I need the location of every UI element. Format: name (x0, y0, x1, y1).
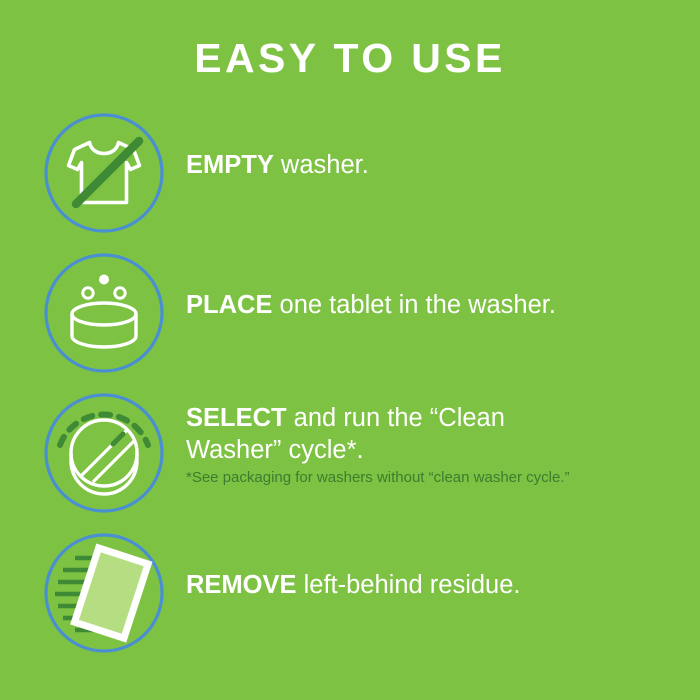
step-rest: left-behind residue. (297, 571, 521, 599)
page-title: EASY TO USE (0, 36, 700, 81)
step-item: REMOVE left-behind residue. (0, 524, 700, 664)
step-emphasis: REMOVE (186, 571, 297, 599)
tshirt-no-laundry-icon (43, 112, 165, 234)
step-label: REMOVE left-behind residue. (186, 569, 680, 601)
step-text: PLACE one tablet in the washer. (186, 289, 680, 321)
dissolving-tablet-cycle-icon (43, 392, 165, 514)
step-label: SELECT and run the “Clean (186, 402, 680, 434)
step-text: EMPTY washer. (186, 149, 680, 181)
step-label-line2: Washer” cycle*. (186, 434, 680, 466)
step-rest: washer. (274, 151, 369, 179)
step-text: SELECT and run the “Clean Washer” cycle*… (186, 402, 680, 488)
step-footnote: *See packaging for washers without “clea… (186, 469, 576, 488)
step-text: REMOVE left-behind residue. (186, 569, 680, 601)
easy-to-use-infographic: EASY TO USE EMPTY washer. (0, 0, 700, 700)
step-rest: and run the “Clean (287, 404, 505, 432)
step-item: PLACE one tablet in the washer. (0, 244, 700, 384)
step-label: EMPTY washer. (186, 149, 680, 181)
step-item: EMPTY washer. (0, 104, 700, 244)
tablet-with-bubbles-icon (43, 252, 165, 374)
step-item: SELECT and run the “Clean Washer” cycle*… (0, 384, 700, 524)
step-emphasis: PLACE (186, 291, 272, 319)
step-emphasis: SELECT (186, 404, 287, 432)
step-emphasis: EMPTY (186, 151, 274, 179)
steps-list: EMPTY washer. PLACE on (0, 104, 700, 664)
wipe-residue-icon (43, 532, 165, 654)
step-rest: one tablet in the washer. (272, 291, 556, 319)
step-label: PLACE one tablet in the washer. (186, 289, 680, 321)
